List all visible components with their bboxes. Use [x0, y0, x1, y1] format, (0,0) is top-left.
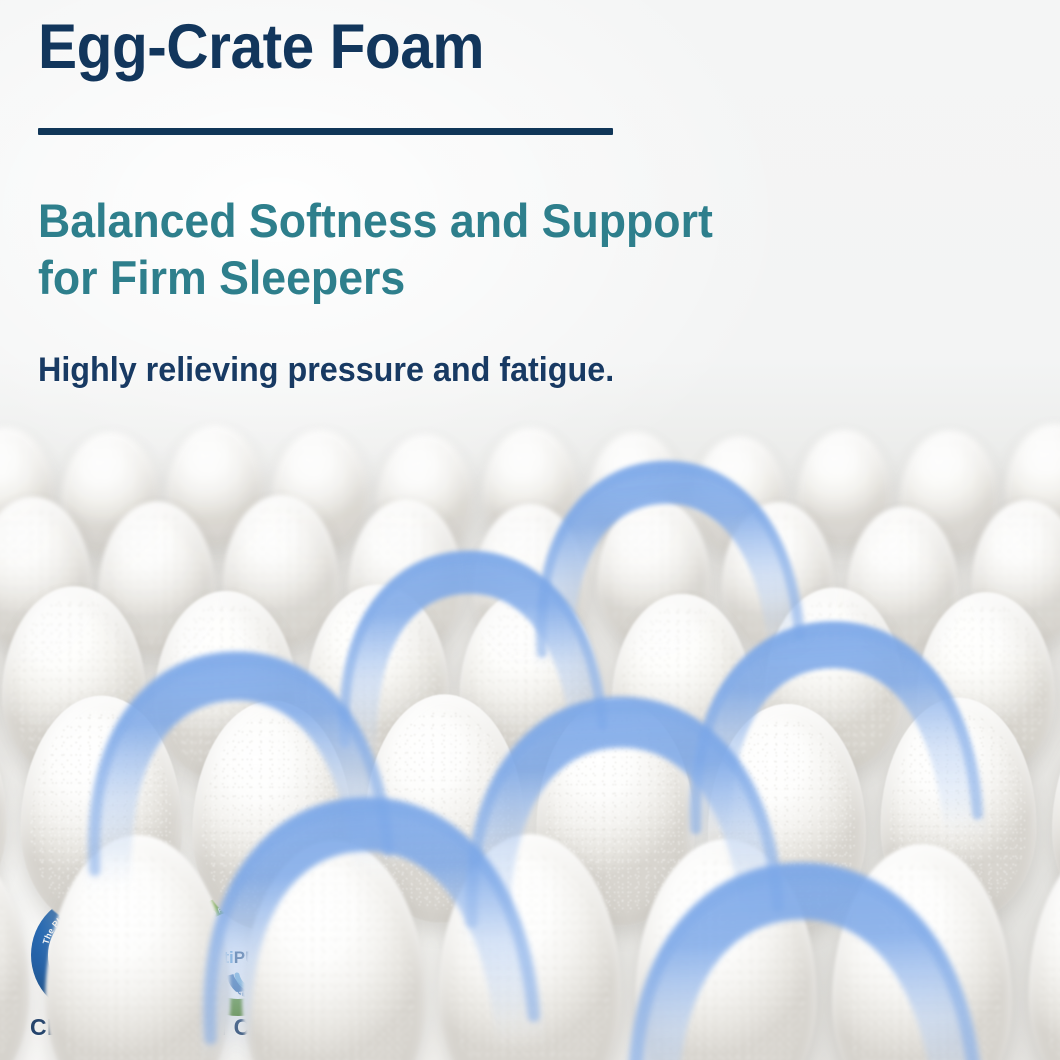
foam-peak: [2, 586, 146, 776]
foam-peak: [307, 585, 449, 773]
foam-peak: [166, 425, 264, 547]
foam-peak: [482, 427, 578, 546]
foam-peak: [439, 834, 622, 1060]
foam-peak: [1005, 424, 1060, 547]
foam-row: [0, 500, 1060, 650]
us-wordmark-bold: PUR-US: [234, 948, 299, 967]
foam-peak: [880, 698, 1036, 921]
us-wordmark-light: Certi: [195, 948, 234, 967]
foam-peak: [798, 430, 892, 547]
foam-row: [0, 590, 1060, 775]
foam-peak: [612, 594, 752, 779]
foam-row: [0, 700, 1060, 925]
foam-row: [0, 430, 1060, 550]
foam-peak: [708, 704, 865, 929]
foam-peak: [154, 591, 297, 780]
foam-peak: [900, 430, 1000, 553]
foam-peak: [377, 434, 474, 554]
foam-peak: [917, 592, 1055, 774]
foam-peak: [271, 430, 369, 551]
certipur-eu-badge: CertiPUR The PU-Foam SHE-Standard Europu…: [30, 893, 154, 1017]
foam-peak: [0, 698, 7, 916]
foam-peak: [473, 504, 587, 654]
foam-peak: [0, 427, 55, 550]
foam-peak: [0, 497, 92, 651]
foam-peak: [722, 502, 835, 650]
eu-wordmark-light: Certi: [52, 946, 98, 968]
foam-peak: [693, 436, 788, 553]
foam-peak: [587, 432, 683, 550]
foam-peak: [1052, 703, 1060, 925]
certipur-us-badge: CertiPUR-US® CONTAINS CERTIFIED FLEXIBLE…: [176, 893, 300, 1017]
foam-peak: [61, 432, 160, 555]
foam-peak: [365, 694, 525, 922]
foam-peak: [832, 844, 1012, 1060]
foam-peak: [99, 501, 216, 654]
foam-peak: [847, 507, 959, 654]
foam-peak: [635, 839, 816, 1060]
certification-caption: CERTIPUR FOAM CERTIFIED: [30, 1014, 359, 1041]
certification-badges: CertiPUR The PU-Foam SHE-Standard Europu…: [30, 893, 300, 1017]
us-wordmark-registered: ®: [299, 949, 300, 959]
foam-peak: [598, 498, 711, 647]
foam-peak: [459, 589, 600, 775]
foam-peak: [0, 839, 29, 1060]
foam-peak: [224, 495, 340, 647]
foam-peak: [1029, 838, 1060, 1060]
foam-peak: [536, 699, 694, 926]
foam-peak: [765, 588, 904, 772]
foam-peak: [348, 499, 463, 650]
foam-peak: [972, 500, 1060, 646]
product-feature-poster: Egg-Crate Foam Balanced Softness and Sup…: [0, 0, 1060, 1060]
